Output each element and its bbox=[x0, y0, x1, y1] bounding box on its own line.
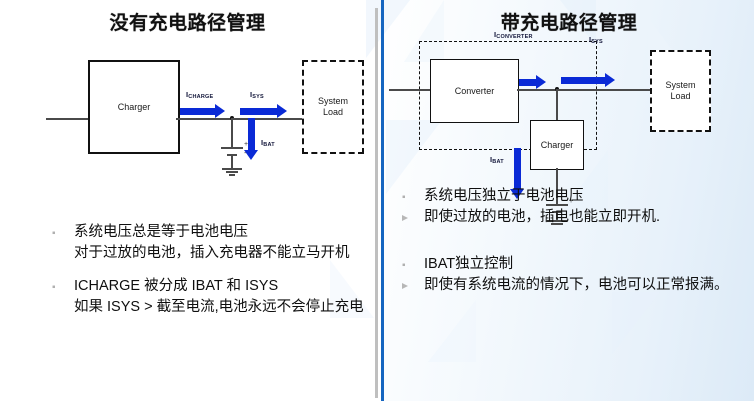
left-input-wire bbox=[46, 118, 90, 120]
list-item: ▪ ICHARGE 被分成 IBAT 和 ISYS bbox=[52, 276, 368, 298]
bullet-triangle-icon bbox=[402, 215, 408, 221]
left-panel-title: 没有充电路径管理 bbox=[0, 8, 375, 35]
slide-root: 没有充电路径管理 Charger ICHARGE ISYS bbox=[0, 0, 754, 401]
list-item: ▪ 系统电压总是等于电池电压 bbox=[52, 222, 368, 244]
list-item-text: 对于过放的电池，插入充电器不能立马开机 bbox=[52, 244, 368, 263]
left-battery-plus: + bbox=[244, 141, 248, 148]
list-item: 即使有系统电流的情况下，电池可以正常报满。 bbox=[402, 276, 744, 295]
list-spacer bbox=[402, 226, 744, 240]
left-system-load-label: System Load bbox=[318, 96, 348, 119]
left-charger-label: Charger bbox=[118, 102, 151, 112]
left-isys-label: ISYS bbox=[250, 90, 264, 99]
right-panel: 带充电路径管理 Converter ICONVERTER ISYS bbox=[384, 0, 754, 401]
left-sys-wire bbox=[232, 118, 304, 120]
left-system-load-block: System Load bbox=[302, 60, 364, 154]
bullet-square-icon: ▪ bbox=[52, 229, 56, 239]
list-item-text: IBAT独立控制 bbox=[424, 254, 744, 276]
left-bullet-list: ▪ 系统电压总是等于电池电压 对于过放的电池，插入充电器不能立马开机 ▪ ICH… bbox=[52, 222, 368, 317]
right-converter-block: Converter bbox=[430, 59, 519, 123]
left-charger-block: Charger bbox=[88, 60, 180, 154]
list-item-text: 系统电压独立于电池电压 bbox=[424, 186, 744, 208]
bullet-triangle-icon bbox=[402, 283, 408, 289]
divider-shadow bbox=[375, 8, 378, 398]
right-bullet-list: ▪ 系统电压独立于电池电压 即使过放的电池，插电也能立即开机. ▪ IBAT独立… bbox=[402, 186, 744, 295]
right-ibat-arrow bbox=[514, 148, 521, 190]
right-charger-block: Charger bbox=[530, 120, 584, 170]
right-iconverter-arrow bbox=[519, 79, 537, 86]
list-item-text: 即使有系统电流的情况下，电池可以正常报满。 bbox=[402, 276, 744, 295]
left-charge-wire bbox=[176, 118, 232, 120]
left-ibat-label: IBAT bbox=[261, 138, 275, 147]
right-input-wire bbox=[389, 89, 432, 91]
list-item: 如果 ISYS > 截至电流,电池永远不会停止充电 bbox=[52, 298, 368, 317]
right-converter-out-wire bbox=[517, 89, 557, 91]
left-icharge-arrow bbox=[180, 108, 216, 115]
right-diagram: Converter ICONVERTER ISYS Charger I bbox=[384, 30, 754, 200]
list-spacer bbox=[402, 240, 744, 254]
left-isys-arrow bbox=[240, 108, 278, 115]
left-ibat-arrow bbox=[248, 118, 255, 151]
bullet-square-icon: ▪ bbox=[52, 283, 56, 293]
bullet-square-icon: ▪ bbox=[402, 261, 406, 271]
right-isys-label: ISYS bbox=[589, 35, 603, 44]
right-sys-wire bbox=[557, 89, 652, 91]
list-item: 即使过放的电池，插电也能立即开机. bbox=[402, 208, 744, 227]
left-battery-minus: - bbox=[244, 150, 246, 157]
left-icharge-label: ICHARGE bbox=[186, 90, 213, 99]
left-diagram: Charger ICHARGE ISYS IBAT + bbox=[0, 40, 375, 155]
right-ibat-label: IBAT bbox=[490, 155, 504, 164]
list-item: ▪ IBAT独立控制 bbox=[402, 254, 744, 276]
list-item-text: 系统电压总是等于电池电压 bbox=[74, 222, 368, 244]
right-charger-label: Charger bbox=[541, 140, 574, 150]
right-charger-in-wire bbox=[556, 89, 558, 121]
list-item-text: ICHARGE 被分成 IBAT 和 ISYS bbox=[74, 276, 368, 298]
left-battery-tail bbox=[231, 154, 233, 168]
left-ground-symbol bbox=[222, 168, 242, 178]
list-item-text: 如果 ISYS > 截至电流,电池永远不会停止充电 bbox=[52, 298, 368, 317]
list-spacer bbox=[52, 262, 368, 276]
right-iconverter-label: ICONVERTER bbox=[494, 30, 533, 39]
right-system-load-block: System Load bbox=[650, 50, 711, 132]
right-converter-label: Converter bbox=[455, 86, 495, 96]
left-panel: 没有充电路径管理 Charger ICHARGE ISYS bbox=[0, 0, 375, 401]
list-item: 对于过放的电池，插入充电器不能立马开机 bbox=[52, 244, 368, 263]
left-battery-wire bbox=[231, 118, 233, 148]
right-system-load-label: System Load bbox=[665, 80, 695, 103]
right-isys-arrow bbox=[561, 77, 606, 84]
bullet-square-icon: ▪ bbox=[402, 193, 406, 203]
list-item: ▪ 系统电压独立于电池电压 bbox=[402, 186, 744, 208]
list-item-text: 即使过放的电池，插电也能立即开机. bbox=[402, 208, 744, 227]
